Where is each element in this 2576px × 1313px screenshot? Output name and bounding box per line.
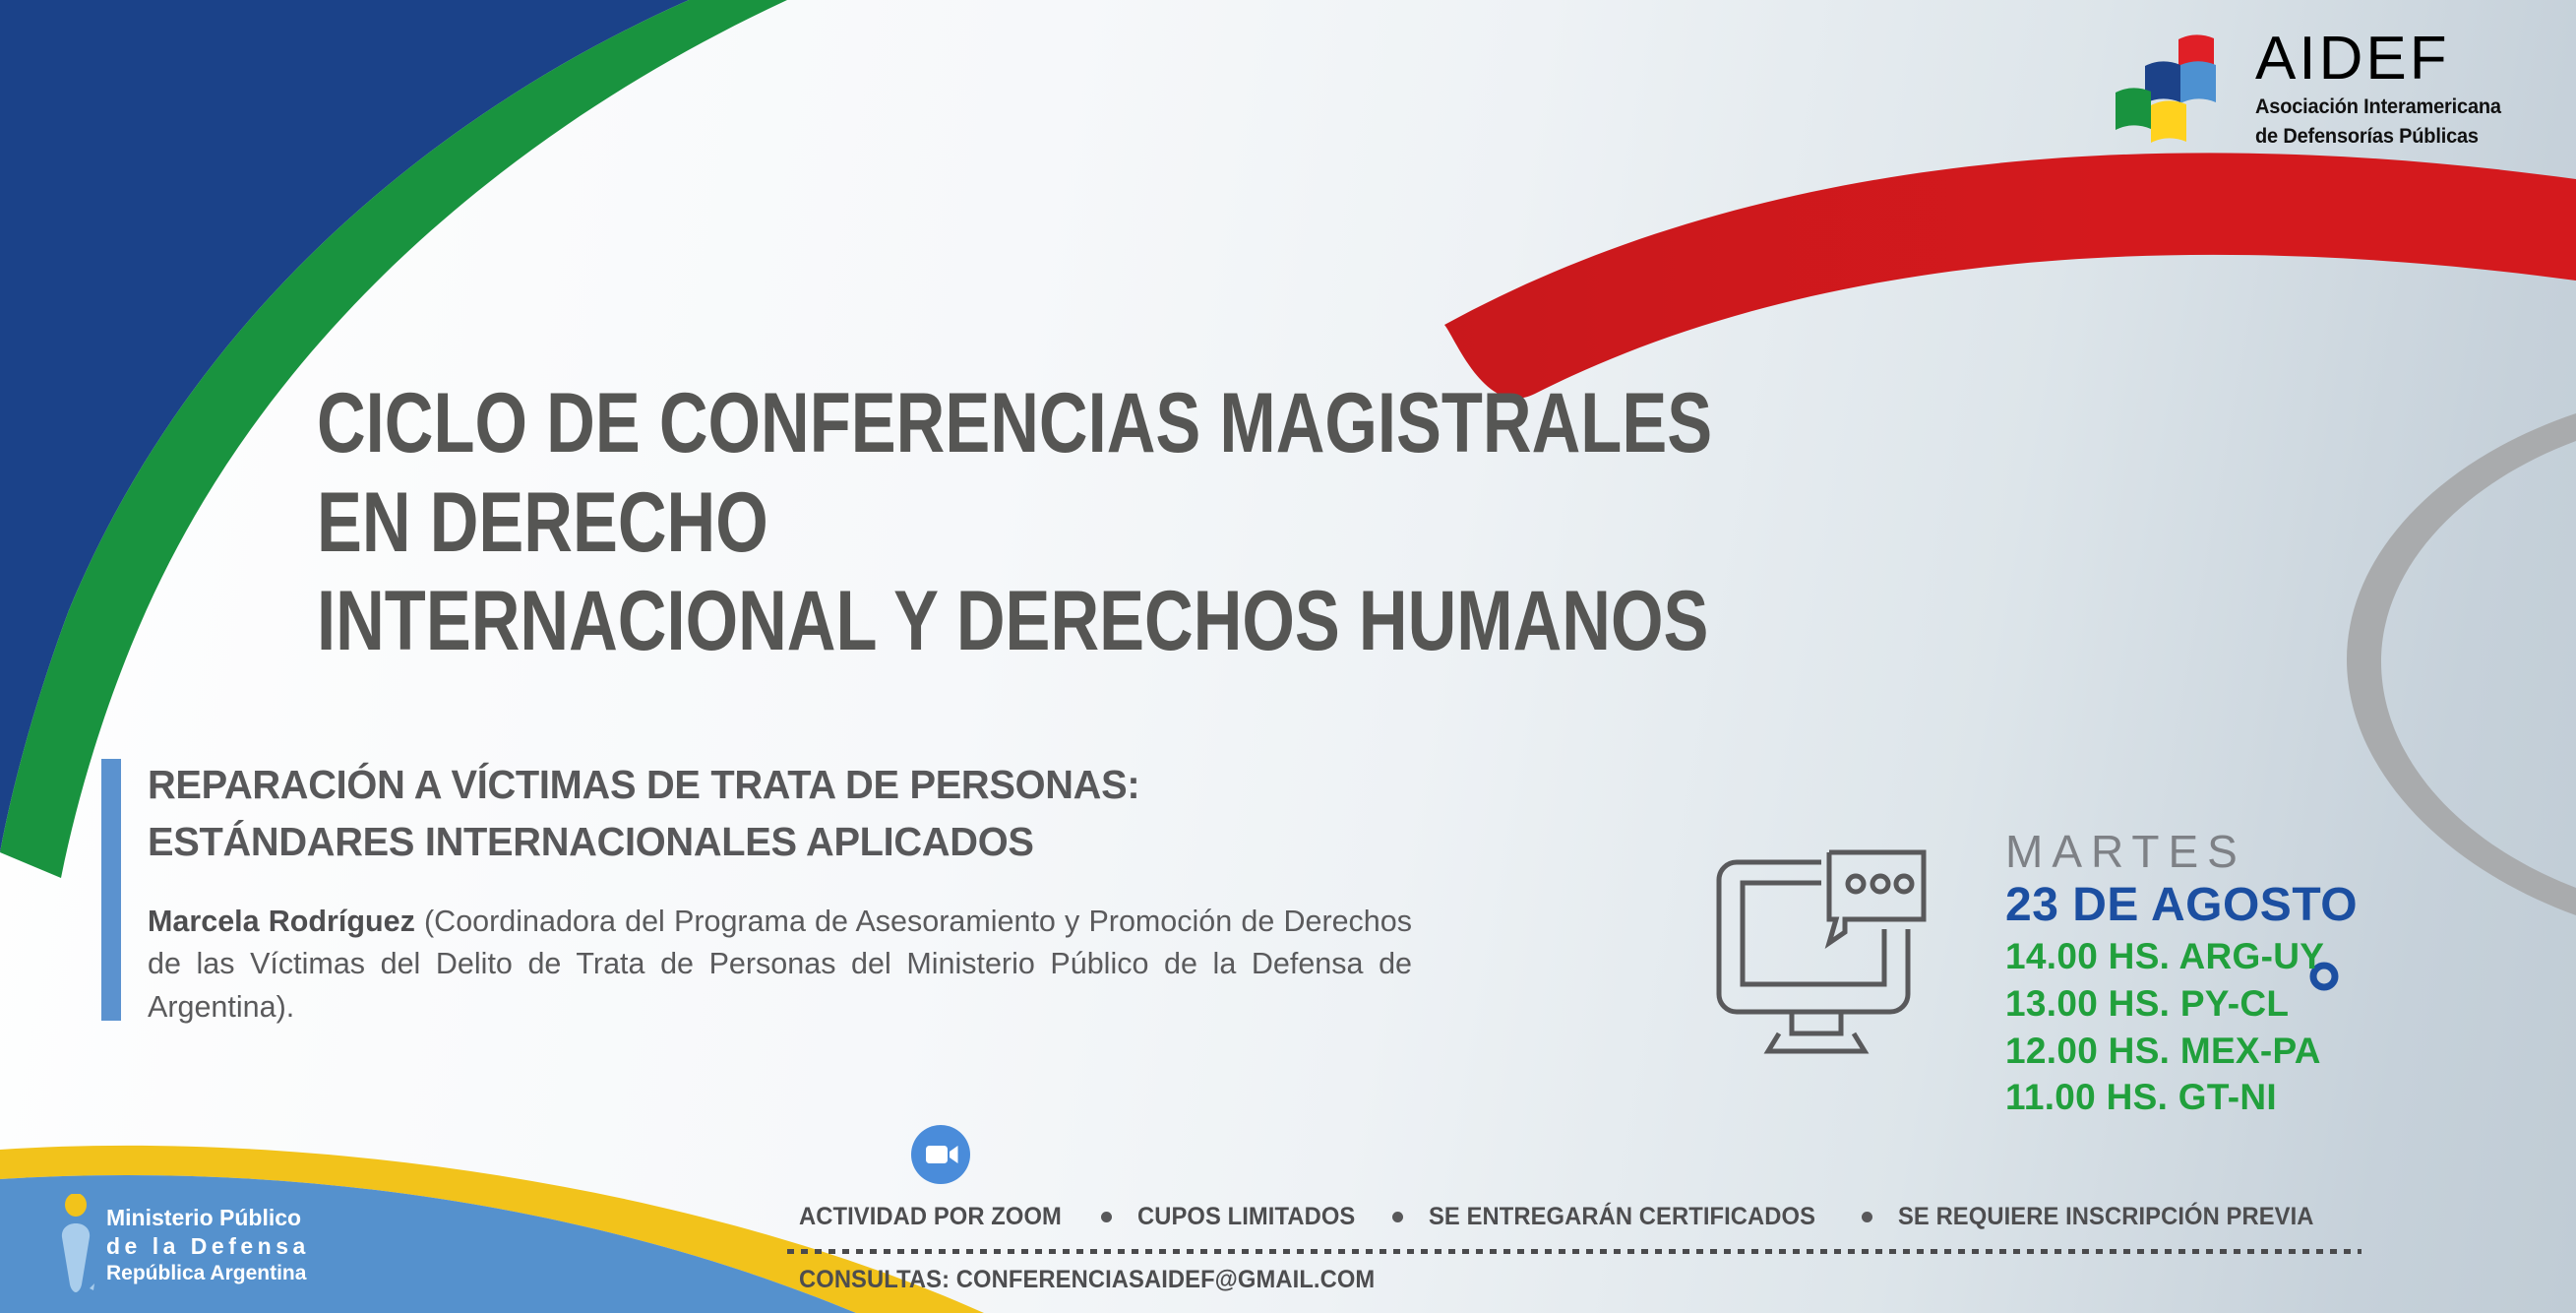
schedule-time-3: 11.00 HS. GT-NI bbox=[2005, 1074, 2458, 1121]
info-item-3: SE REQUIERE INSCRIPCIÓN PREVIA bbox=[1898, 1203, 2314, 1231]
schedule-block: MARTES 23 DE AGOSTO 14.00 HS. ARG-UY 13.… bbox=[2005, 827, 2458, 1121]
mpd-figure-icon bbox=[57, 1194, 96, 1297]
aidef-subtitle-line2: de Defensorías Públicas bbox=[2255, 124, 2501, 149]
mpd-wordmark: Ministerio Público de la Defensa Repúbli… bbox=[106, 1204, 310, 1285]
aidef-name: AIDEF bbox=[2255, 29, 2520, 90]
session-subtitle: REPARACIÓN A VÍCTIMAS DE TRATA DE PERSON… bbox=[148, 756, 1427, 870]
schedule-time-0: 14.00 HS. ARG-UY bbox=[2005, 933, 2458, 980]
zoom-video-icon bbox=[910, 1124, 971, 1185]
aidef-logo: AIDEF Asociación Interamericana de Defen… bbox=[2116, 30, 2529, 148]
mpd-line-2: de la Defensa bbox=[106, 1232, 310, 1261]
conference-poster: AIDEF Asociación Interamericana de Defen… bbox=[0, 0, 2576, 1313]
info-separator-dot bbox=[1101, 1212, 1112, 1222]
info-separator-dot bbox=[1862, 1212, 1872, 1222]
aidef-subtitle-line1: Asociación Interamericana bbox=[2255, 94, 2501, 119]
schedule-date: 23 DE AGOSTO bbox=[2005, 878, 2458, 934]
contact-line: CONSULTAS: CONFERENCIASAIDEF@GMAIL.COM bbox=[799, 1266, 1375, 1294]
aidef-flag-icon bbox=[2116, 34, 2241, 143]
info-item-2: SE ENTREGARÁN CERTIFICADOS bbox=[1429, 1203, 1815, 1231]
aidef-wordmark: AIDEF Asociación Interamericana de Defen… bbox=[2255, 29, 2520, 150]
info-bar: ACTIVIDAD POR ZOOM CUPOS LIMITADOS SE EN… bbox=[799, 1203, 2335, 1231]
info-item-1: CUPOS LIMITADOS bbox=[1137, 1203, 1355, 1231]
mpd-line-1: Ministerio Público bbox=[106, 1204, 310, 1232]
schedule-weekday: MARTES bbox=[2005, 827, 2458, 878]
info-separator-dot bbox=[1392, 1212, 1403, 1222]
mpd-line-3: República Argentina bbox=[106, 1261, 310, 1286]
red-arc-shape bbox=[1444, 153, 2576, 398]
schedule-time-2: 12.00 HS. MEX-PA bbox=[2005, 1028, 2458, 1075]
session-accent-bar bbox=[101, 759, 121, 1021]
dotted-divider bbox=[787, 1249, 2361, 1254]
speaker-name: Marcela Rodríguez bbox=[148, 905, 415, 938]
info-item-0: ACTIVIDAD POR ZOOM bbox=[799, 1203, 1062, 1231]
page-title: CICLO DE CONFERENCIAS MAGISTRALES EN DER… bbox=[317, 374, 1749, 671]
speaker-info: Marcela Rodríguez (Coordinadora del Prog… bbox=[148, 901, 1412, 1029]
mpd-logo: Ministerio Público de la Defensa Repúbli… bbox=[57, 1186, 352, 1304]
monitor-chat-icon bbox=[1695, 819, 1951, 1065]
schedule-time-1: 13.00 HS. PY-CL bbox=[2005, 980, 2458, 1028]
